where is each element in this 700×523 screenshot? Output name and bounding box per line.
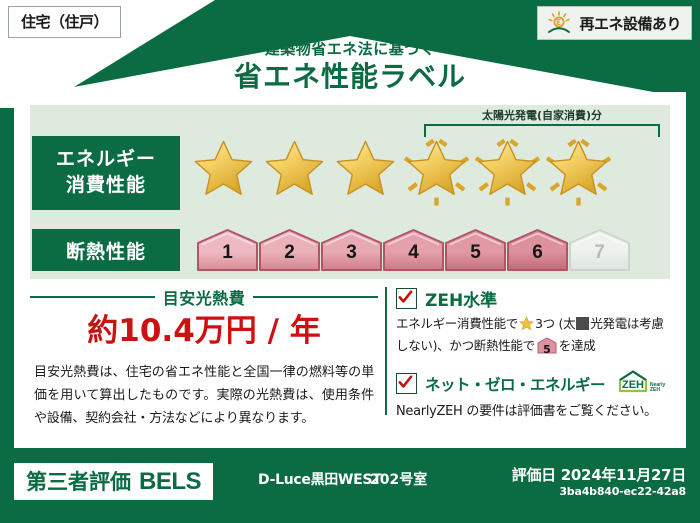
zeh-desc-part4: を達成 (559, 338, 596, 353)
star-icon-solar (401, 136, 472, 210)
insulation-level-2: 2 (258, 228, 321, 272)
net-zero-energy-check-row: ネット・ゼロ・エネルギー ZEH Nearly ZEH (396, 369, 674, 399)
insulation-level-badge-inline: 5 (537, 337, 557, 354)
insulation-level-6: 6 (506, 228, 569, 272)
solar-bracket-label: 太陽光発電(自家消費)分 (424, 110, 660, 122)
energy-row-label: エネルギー 消費性能 (32, 136, 180, 210)
redacted-block (576, 317, 589, 330)
cost-value: 約10.4万円 / 年 (30, 314, 378, 348)
bels-badge-en: BELS (139, 468, 201, 496)
cost-rule-left (30, 296, 155, 298)
building-name: D-Luce黒田WEST (258, 469, 381, 489)
estimated-utility-cost-block: 目安光熱費 約10.4万円 / 年 目安光熱費は、住宅の省エネ性能と全国一律の燃… (30, 285, 378, 430)
insulation-level-value: 1 (196, 242, 259, 264)
net-zero-energy-checkbox[interactable] (396, 373, 417, 394)
label-title-block: 建築物省エネ法に基づく 省エネ性能ラベル (0, 40, 700, 94)
cost-rule-right (253, 296, 378, 298)
insulation-level-value: 3 (320, 242, 383, 264)
energy-star-rating (188, 136, 614, 210)
insulation-performance-row: 断熱性能 1 (32, 228, 630, 272)
insulation-level-value: 5 (444, 242, 507, 264)
net-zero-energy-title: ネット・ゼロ・エネルギー (425, 373, 605, 395)
star-icon (188, 136, 259, 210)
bels-badge-jp: 第三者評価 (26, 466, 131, 496)
insulation-level-value: 4 (382, 242, 445, 264)
zeh-nearly-logo: ZEH Nearly ZEH (617, 369, 669, 399)
label-footer: 第三者評価 BELS D-Luce黒田WEST 202号室 評価日 2024年1… (0, 455, 700, 523)
insulation-level-value: 7 (568, 242, 631, 264)
energy-consumption-row: エネルギー 消費性能 (32, 136, 614, 210)
bels-certification-badge: 第三者評価 BELS (14, 463, 213, 500)
star-icon-solar (543, 136, 614, 210)
insulation-level-scale: 1 2 (196, 228, 630, 272)
energy-performance-label: 住宅（住戸） 再エネ設備あり 建築物省エネ法に基づく 省エネ性能ラベル 太陽光発… (0, 0, 700, 523)
checkmark-icon (398, 290, 413, 305)
zeh-standard-checkbox[interactable] (396, 288, 417, 309)
zeh-standard-description: エネルギー消費性能で3つ (太光発電は考慮しない)、かつ断熱性能で5を達成 (396, 314, 674, 356)
bracket-line (424, 124, 660, 137)
star-icon (519, 316, 534, 336)
star-icon (330, 136, 401, 210)
title-main: 省エネ性能ラベル (0, 59, 700, 94)
cost-disclaimer-text: 目安光熱費は、住宅の省エネ性能と全国一律の燃料等の単価を用いて算出したものです。… (30, 362, 378, 430)
insulation-level-3: 3 (320, 228, 383, 272)
energy-label-line1: エネルギー (56, 147, 156, 173)
cost-heading-text: 目安光熱費 (163, 285, 246, 309)
insulation-badge-value: 5 (537, 341, 557, 358)
zeh-standard-check-row: ZEH水準 (396, 286, 674, 311)
evaluation-date: 評価日 2024年11月27日 (512, 464, 686, 485)
zeh-desc-part1: エネルギー消費性能で (396, 316, 518, 331)
insulation-row-label: 断熱性能 (32, 229, 180, 271)
insulation-level-4: 4 (382, 228, 445, 272)
title-subtitle: 建築物省エネ法に基づく (0, 40, 700, 58)
renewable-equipment-badge: 再エネ設備あり (537, 6, 692, 40)
svg-text:ZEH: ZEH (650, 387, 660, 393)
housing-type-chip: 住宅（住戸） (8, 6, 121, 38)
certification-checklist: ZEH水準 エネルギー消費性能で3つ (太光発電は考慮しない)、かつ断熱性能で5… (396, 286, 674, 422)
net-zero-energy-description: NearlyZEH の要件は評価書をご覧ください。 (396, 402, 674, 422)
energy-label-line2: 消費性能 (66, 173, 146, 199)
column-divider (385, 287, 387, 415)
star-icon-solar (472, 136, 543, 210)
solar-generation-bracket: 太陽光発電(自家消費)分 (424, 110, 660, 137)
evaluation-id: 3ba4b840-ec22-42a8 (559, 485, 686, 498)
renewable-badge-label: 再エネ設備あり (579, 13, 681, 34)
insulation-level-5: 5 (444, 228, 507, 272)
room-number: 202号室 (370, 469, 427, 489)
sun-solar-icon (546, 11, 572, 35)
zeh-standard-title: ZEH水準 (425, 286, 497, 311)
cost-heading-row: 目安光熱費 (30, 285, 378, 309)
star-icon (259, 136, 330, 210)
insulation-level-value: 2 (258, 242, 321, 264)
insulation-level-value: 6 (506, 242, 569, 264)
insulation-level-1: 1 (196, 228, 259, 272)
insulation-level-7: 7 (568, 228, 631, 272)
zeh-desc-part2: 3つ (太 (535, 316, 575, 331)
svg-text:ZEH: ZEH (622, 379, 644, 391)
insulation-label-text: 断熱性能 (66, 237, 146, 264)
checkmark-icon (398, 375, 413, 390)
